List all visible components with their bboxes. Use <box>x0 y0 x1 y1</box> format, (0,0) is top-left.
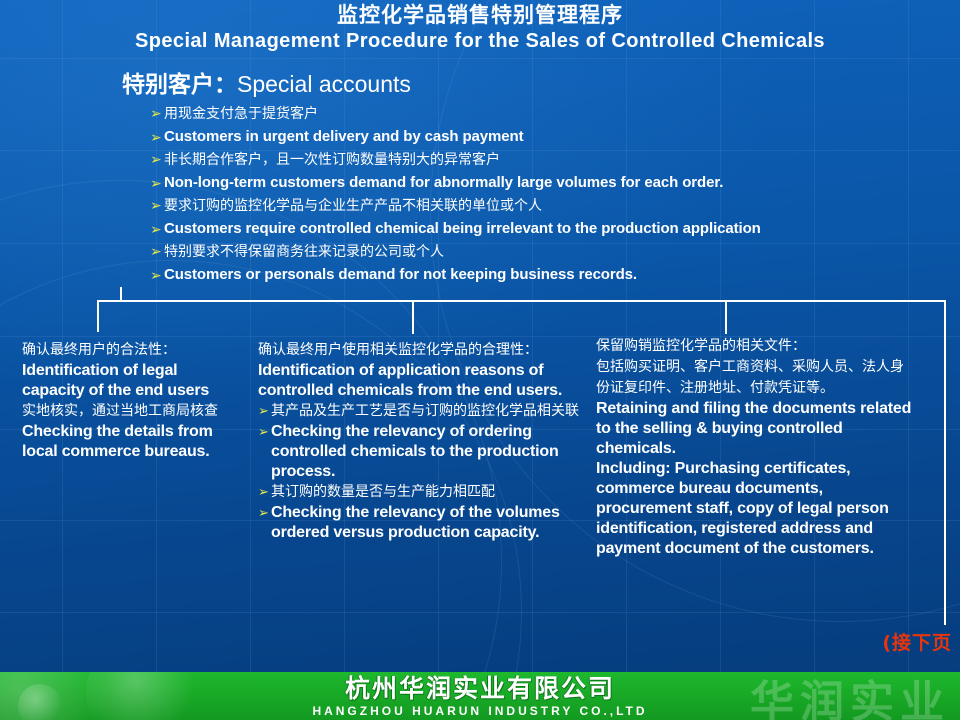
bullet-text: Non-long-term customers demand for abnor… <box>164 174 723 191</box>
connector-branch-right <box>944 300 946 625</box>
bullet-item: ➢Customers in urgent delivery and by cas… <box>150 125 960 149</box>
bullet-item: ➢Non-long-term customers demand for abno… <box>150 171 960 195</box>
arrow-bullet-icon: ➢ <box>150 149 162 171</box>
title-chinese: 监控化学品销售特别管理程序 <box>0 2 960 28</box>
column-paragraph-text: Retaining and filing the documents relat… <box>596 400 911 457</box>
bullet-text: Customers require controlled chemical be… <box>164 220 761 237</box>
column-identification-legal-capacity: 确认最终用户的合法性：Identification of legal capac… <box>22 340 237 462</box>
footer-company: 杭州华润实业有限公司 HANGZHOU HUARUN INDUSTRY CO.,… <box>0 674 960 719</box>
slide-title: 监控化学品销售特别管理程序 Special Management Procedu… <box>0 2 960 53</box>
column-paragraph-text: 确认最终用户使用相关监控化学品的合理性： <box>258 342 538 358</box>
arrow-bullet-icon: ➢ <box>150 263 162 287</box>
column-paragraph: 确认最终用户使用相关监控化学品的合理性： <box>258 340 583 361</box>
column-paragraph-text: Checking the details from local commerce… <box>22 423 213 460</box>
column-paragraph-text: Checking the relevancy of the volumes or… <box>271 504 560 541</box>
bullet-item: ➢用现金支付急于提货客户 <box>150 103 960 125</box>
connector-branch-left <box>97 300 99 332</box>
bullet-item: ➢Customers require controlled chemical b… <box>150 217 960 241</box>
arrow-bullet-icon: ➢ <box>150 217 162 241</box>
bullet-text: Customers in urgent delivery and by cash… <box>164 128 523 145</box>
column-paragraph: Identification of application reasons of… <box>258 361 583 401</box>
column-paragraph-text: 实地核实，通过当地工商局核查 <box>22 403 218 419</box>
column-paragraph-text: 确认最终用户的合法性： <box>22 342 176 358</box>
arrow-bullet-icon: ➢ <box>258 482 269 503</box>
section-heading-chinese: 特别客户： <box>122 72 237 98</box>
arrow-bullet-icon: ➢ <box>150 241 162 263</box>
column-paragraph: 保留购销监控化学品的相关文件： <box>596 336 916 357</box>
arrow-bullet-icon: ➢ <box>258 401 269 422</box>
column-paragraph: Identification of legal capacity of the … <box>22 361 237 401</box>
column-paragraph-text: 保留购销监控化学品的相关文件： <box>596 338 806 354</box>
column-paragraph-text: Identification of application reasons of… <box>258 362 562 399</box>
arrow-bullet-icon: ➢ <box>258 503 269 523</box>
column-paragraph-text: 其产品及生产工艺是否与订购的监控化学品相关联 <box>271 403 579 419</box>
bullet-item: ➢Customers or personals demand for not k… <box>150 263 960 287</box>
arrow-bullet-icon: ➢ <box>150 125 162 149</box>
column-paragraph: Checking the details from local commerce… <box>22 422 237 462</box>
slide-canvas: 监控化学品销售特别管理程序 Special Management Procedu… <box>0 0 960 720</box>
column-paragraph-text: 包括购买证明、客户工商资料、采购人员、法人身份证复印件、注册地址、付款凭证等。 <box>596 359 904 396</box>
column-paragraph-text: 其订购的数量是否与生产能力相匹配 <box>271 484 495 500</box>
column-paragraph: 确认最终用户的合法性： <box>22 340 237 361</box>
bullet-item: ➢要求订购的监控化学品与企业生产产品不相关联的单位或个人 <box>150 195 960 217</box>
continuation-note: (接下页 <box>882 628 952 655</box>
connector-branch-mid-left <box>412 300 414 334</box>
column-paragraph: ➢Checking the relevancy of the volumes o… <box>258 503 583 543</box>
column-paragraph: ➢其产品及生产工艺是否与订购的监控化学品相关联 <box>258 401 583 422</box>
bullet-text: 特别要求不得保留商务往来记录的公司或个人 <box>164 244 444 260</box>
column-paragraph: 实地核实，通过当地工商局核查 <box>22 401 237 422</box>
bullet-text: Customers or personals demand for not ke… <box>164 266 637 283</box>
connector-horizontal-bar <box>97 300 946 302</box>
footer-company-chinese: 杭州华润实业有限公司 <box>0 674 960 703</box>
connector-branch-mid-right <box>725 300 727 334</box>
column-paragraph: Including: Purchasing certificates, comm… <box>596 459 916 559</box>
footer-banner: 华润实业 杭州华润实业有限公司 HANGZHOU HUARUN INDUSTRY… <box>0 672 960 720</box>
column-paragraph-text: Identification of legal capacity of the … <box>22 362 209 399</box>
section-heading: 特别客户：Special accounts <box>122 70 411 99</box>
bullet-text: 非长期合作客户，且一次性订购数量特别大的异常客户 <box>164 152 500 168</box>
column-identification-application-reasons: 确认最终用户使用相关监控化学品的合理性：Identification of ap… <box>258 340 583 543</box>
arrow-bullet-icon: ➢ <box>150 195 162 217</box>
column-document-retention: 保留购销监控化学品的相关文件：包括购买证明、客户工商资料、采购人员、法人身份证复… <box>596 336 916 559</box>
arrow-bullet-icon: ➢ <box>150 103 162 125</box>
footer-company-english: HANGZHOU HUARUN INDUSTRY CO.,LTD <box>0 704 960 719</box>
column-paragraph-text: Checking the relevancy of ordering contr… <box>271 423 559 480</box>
arrow-bullet-icon: ➢ <box>258 422 269 442</box>
column-paragraph: ➢其订购的数量是否与生产能力相匹配 <box>258 482 583 503</box>
special-accounts-bullet-list: ➢用现金支付急于提货客户➢Customers in urgent deliver… <box>150 103 960 287</box>
title-english: Special Management Procedure for the Sal… <box>0 29 960 53</box>
arrow-bullet-icon: ➢ <box>150 171 162 195</box>
column-paragraph-text: Including: Purchasing certificates, comm… <box>596 460 889 557</box>
column-paragraph: ➢Checking the relevancy of ordering cont… <box>258 422 583 482</box>
section-heading-english: Special accounts <box>237 71 411 97</box>
bullet-text: 要求订购的监控化学品与企业生产产品不相关联的单位或个人 <box>164 198 542 214</box>
bullet-item: ➢特别要求不得保留商务往来记录的公司或个人 <box>150 241 960 263</box>
column-paragraph: Retaining and filing the documents relat… <box>596 399 916 459</box>
column-paragraph: 包括购买证明、客户工商资料、采购人员、法人身份证复印件、注册地址、付款凭证等。 <box>596 357 916 399</box>
bullet-item: ➢非长期合作客户，且一次性订购数量特别大的异常客户 <box>150 149 960 171</box>
bullet-text: 用现金支付急于提货客户 <box>164 106 318 122</box>
